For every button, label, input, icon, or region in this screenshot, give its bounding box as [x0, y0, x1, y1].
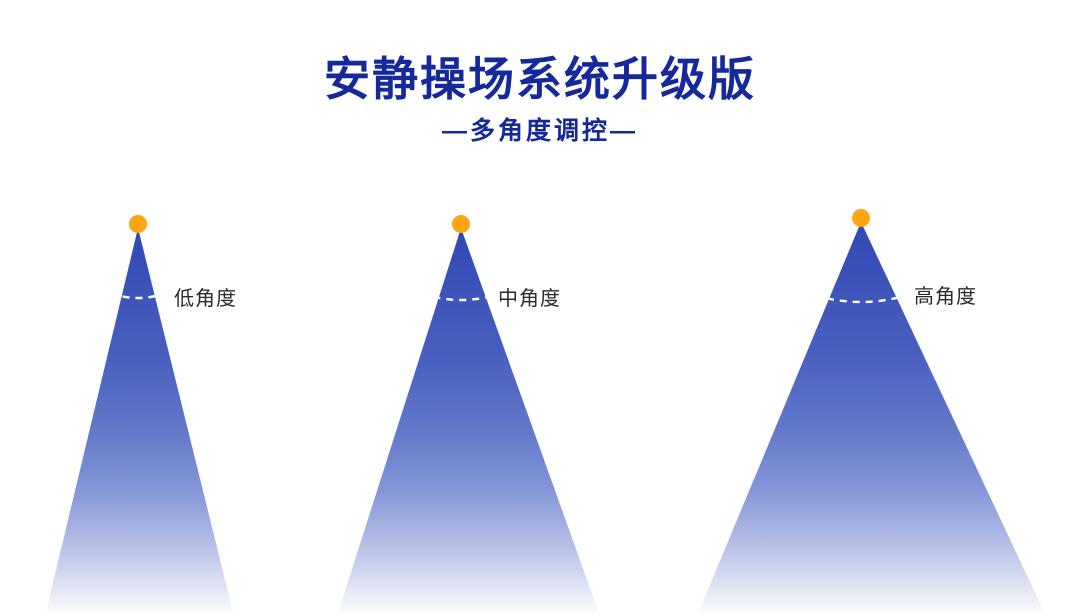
cone-high	[697, 209, 1046, 616]
cone-label-mid: 中角度	[498, 282, 561, 311]
cone-label-high: 高角度	[914, 280, 977, 309]
cone-label-low: 低角度	[174, 282, 237, 311]
cone-high-beam	[697, 222, 1046, 616]
slide-canvas: 安静操场系统升级版 —多角度调控—	[0, 0, 1080, 616]
light-source-dot-icon	[852, 209, 870, 227]
light-source-dot-icon	[129, 215, 147, 233]
cone-mid	[337, 215, 600, 616]
cone-low	[45, 215, 234, 616]
light-source-dot-icon	[452, 215, 470, 233]
